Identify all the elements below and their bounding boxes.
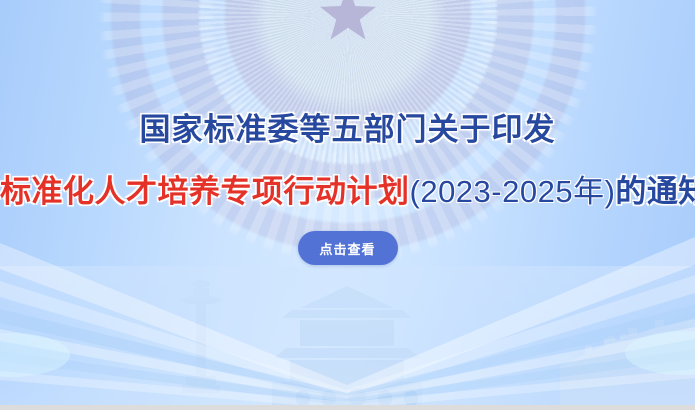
banner-content: 国家标准委等五部门关于印发 标准化人才培养专项行动计划(2023-2025年)的… [0,112,695,265]
headline-line-2: 标准化人才培养专项行动计划(2023-2025年)的通知 [0,174,695,210]
headline-year-range: (2023-2025年) [410,174,616,209]
headline-line-1: 国家标准委等五部门关于印发 [0,112,695,148]
great-wall [560,318,695,406]
headline-plan-name: 标准化人才培养专项行动计划 [0,174,410,209]
star-icon [317,0,379,46]
tiananmen-gate [272,286,422,406]
bottom-strip [0,405,695,410]
huabiao-column [180,280,222,393]
headline-suffix: 的通知 [615,174,695,209]
landmark-silhouette-group [0,266,695,406]
click-to-view-button[interactable]: 点击查看 [298,231,398,265]
notice-banner: 国家标准委等五部门关于印发 标准化人才培养专项行动计划(2023-2025年)的… [0,0,695,410]
cta-container: 点击查看 [0,231,695,265]
